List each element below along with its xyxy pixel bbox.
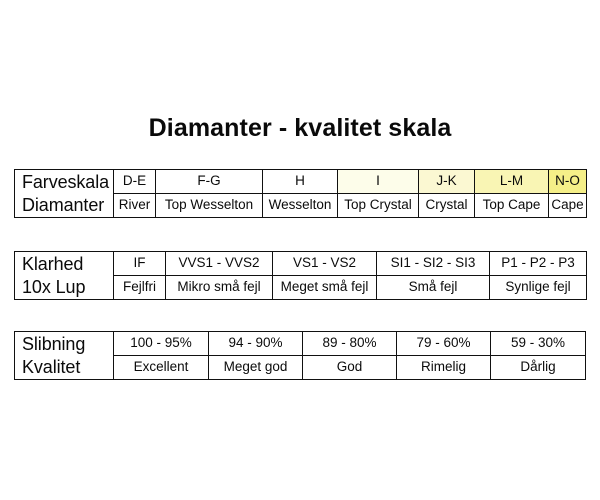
cut-quality-cell-2: God: [303, 356, 397, 380]
color-grade-cell-1: F-G: [156, 170, 263, 194]
table-row: Slibning Kvalitet 100 - 95% 94 - 90% 89 …: [15, 332, 586, 356]
clarity-row-label: Klarhed 10x Lup: [15, 252, 114, 300]
cut-label-line2: Kvalitet: [22, 356, 113, 379]
clarity-desc-cell-4: Synlige fejl: [490, 276, 587, 300]
color-name-cell-2: Wesselton: [263, 194, 338, 218]
color-name-cell-1: Top Wesselton: [156, 194, 263, 218]
cut-quality-cell-4: Dårlig: [491, 356, 586, 380]
color-name-cell-6: Cape: [549, 194, 587, 218]
color-scale-row-label: Farveskala Diamanter: [15, 170, 114, 218]
color-name-cell-5: Top Cape: [475, 194, 549, 218]
clarity-code-cell-2: VS1 - VS2: [273, 252, 377, 276]
clarity-scale-table: Klarhed 10x Lup IF VVS1 - VVS2 VS1 - VS2…: [14, 251, 587, 300]
color-name-cell-3: Top Crystal: [338, 194, 419, 218]
cut-pct-cell-0: 100 - 95%: [114, 332, 209, 356]
color-name-cell-4: Crystal: [419, 194, 475, 218]
cut-pct-cell-1: 94 - 90%: [209, 332, 303, 356]
page-title: Diamanter - kvalitet skala: [0, 114, 600, 143]
color-name-cell-0: River: [114, 194, 156, 218]
cut-row-label: Slibning Kvalitet: [15, 332, 114, 380]
table-row: Farveskala Diamanter D-E F-G H I J-K L-M…: [15, 170, 587, 194]
cut-quality-cell-0: Excellent: [114, 356, 209, 380]
clarity-desc-cell-2: Meget små fejl: [273, 276, 377, 300]
color-grade-cell-2: H: [263, 170, 338, 194]
color-grade-cell-4: J-K: [419, 170, 475, 194]
clarity-label-line1: Klarhed: [22, 253, 113, 276]
clarity-code-cell-4: P1 - P2 - P3: [490, 252, 587, 276]
clarity-desc-cell-3: Små fejl: [377, 276, 490, 300]
color-scale-table: Farveskala Diamanter D-E F-G H I J-K L-M…: [14, 169, 587, 218]
color-scale-label-line1: Farveskala: [22, 171, 113, 194]
cut-pct-cell-3: 79 - 60%: [397, 332, 491, 356]
cut-quality-cell-3: Rimelig: [397, 356, 491, 380]
color-grade-cell-5: L-M: [475, 170, 549, 194]
diamond-quality-scale-page: Diamanter - kvalitet skala Farveskala Di…: [0, 0, 600, 500]
clarity-code-cell-0: IF: [114, 252, 166, 276]
cut-pct-cell-4: 59 - 30%: [491, 332, 586, 356]
cut-quality-cell-1: Meget god: [209, 356, 303, 380]
clarity-desc-cell-1: Mikro små fejl: [166, 276, 273, 300]
color-grade-cell-0: D-E: [114, 170, 156, 194]
color-grade-cell-3: I: [338, 170, 419, 194]
table-row: Klarhed 10x Lup IF VVS1 - VVS2 VS1 - VS2…: [15, 252, 587, 276]
color-grade-cell-6: N-O: [549, 170, 587, 194]
clarity-code-cell-1: VVS1 - VVS2: [166, 252, 273, 276]
cut-pct-cell-2: 89 - 80%: [303, 332, 397, 356]
color-scale-label-line2: Diamanter: [22, 194, 113, 217]
clarity-code-cell-3: SI1 - SI2 - SI3: [377, 252, 490, 276]
clarity-desc-cell-0: Fejlfri: [114, 276, 166, 300]
cut-scale-table: Slibning Kvalitet 100 - 95% 94 - 90% 89 …: [14, 331, 586, 380]
cut-label-line1: Slibning: [22, 333, 113, 356]
clarity-label-line2: 10x Lup: [22, 276, 113, 299]
